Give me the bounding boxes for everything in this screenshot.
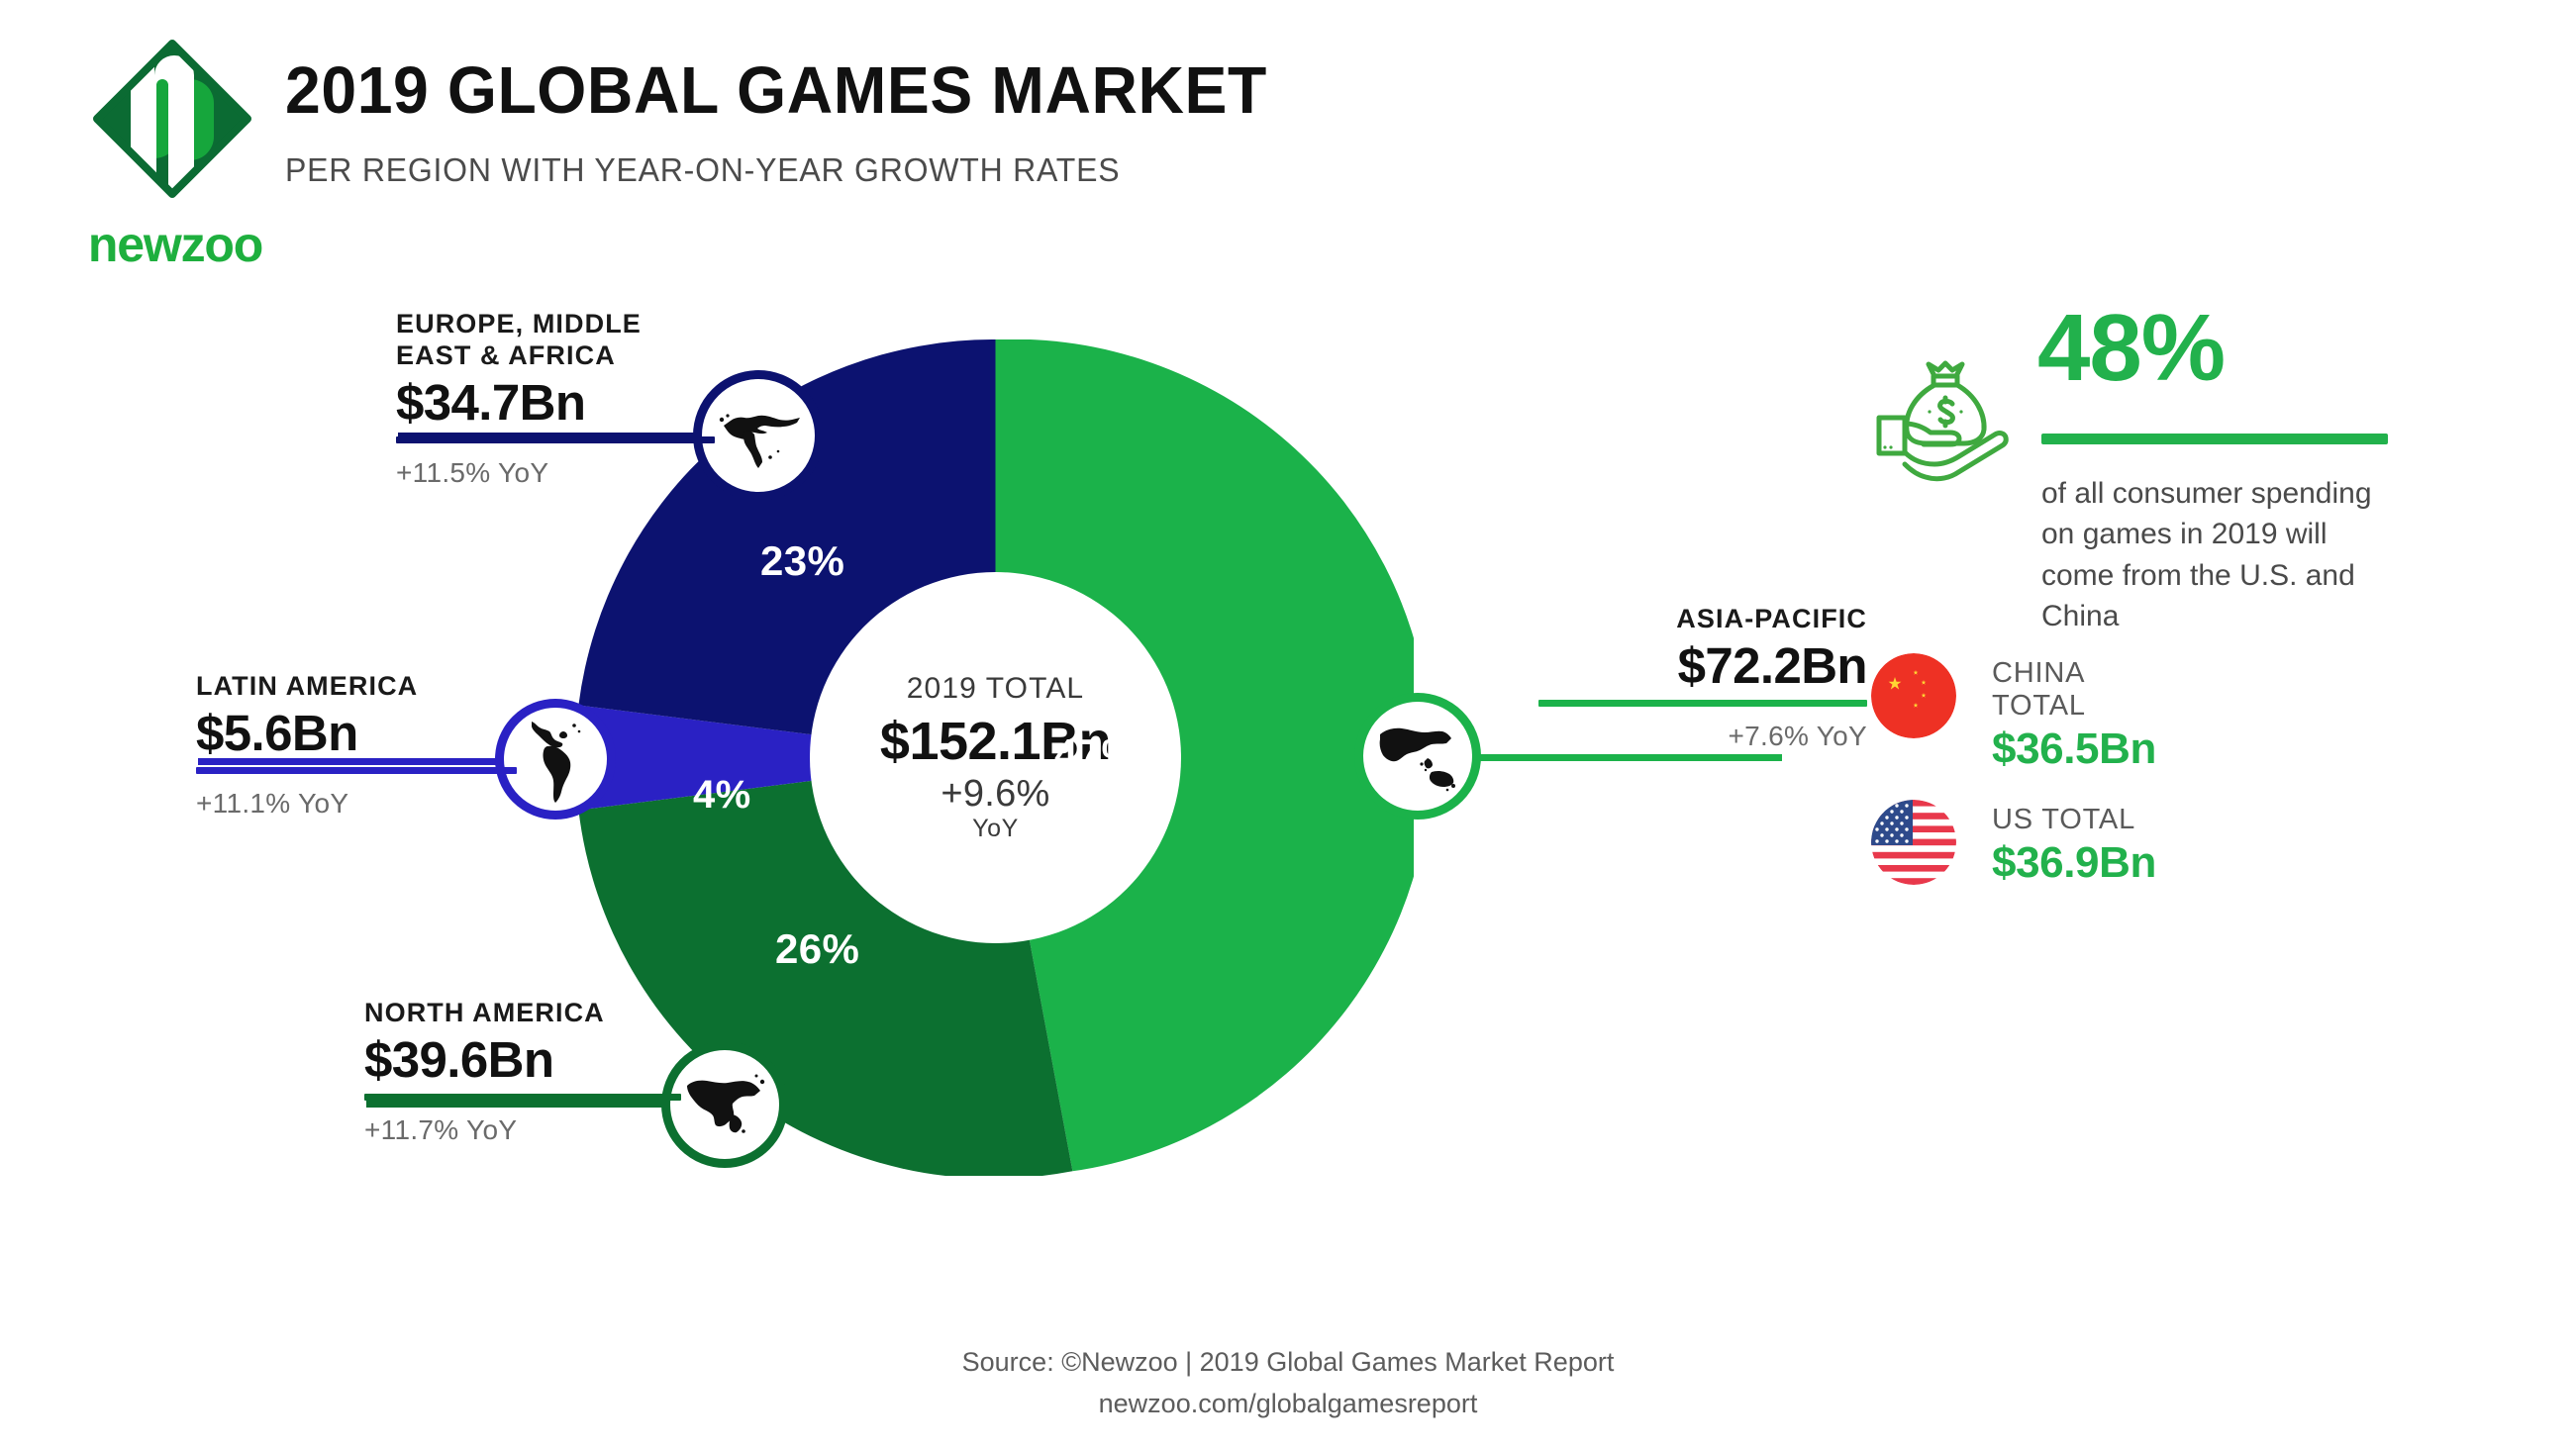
callout-northamerica-name: NORTH AMERICA: [364, 998, 691, 1029]
callout-northamerica-growth: +11.7% YoY: [364, 1114, 691, 1146]
asia-pacific-map-icon: [1376, 719, 1459, 794]
donut-center-growth: +9.6%: [941, 775, 1049, 815]
country-text-china: CHINA TOTAL $36.5Bn: [1992, 657, 2156, 774]
callout-latam-growth: +11.1% YoY: [196, 788, 523, 820]
footer-source: Source: ©Newzoo | 2019 Global Games Mark…: [0, 1342, 2576, 1384]
highlight-percent: 48%: [2037, 301, 2225, 396]
money-bag-in-hand-icon: [1871, 337, 2020, 485]
country-label-china: CHINA TOTAL: [1992, 657, 2156, 723]
footer-url[interactable]: newzoo.com/globalgamesreport: [0, 1384, 2576, 1425]
country-value-china: $36.5Bn: [1992, 724, 2156, 774]
callout-northamerica-value: $39.6Bn: [364, 1031, 691, 1088]
callout-apac-rule: [1538, 700, 1867, 707]
slice-label-latin-america: 4%: [693, 773, 751, 818]
callout-emea-name: EUROPE, MIDDLE EAST & AFRICA: [396, 309, 723, 372]
slice-label-emea: 23%: [760, 537, 844, 585]
callout-apac-value: $72.2Bn: [1531, 637, 1867, 694]
callout-emea-growth: +11.5% YoY: [396, 457, 723, 489]
callout-emea-name-line2: EAST & AFRICA: [396, 340, 616, 370]
country-label-us: US TOTAL: [1992, 804, 2156, 836]
donut-center-yoy: YoY: [972, 815, 1019, 843]
callout-latam: LATIN AMERICA $5.6Bn +11.1% YoY: [196, 671, 523, 820]
callout-apac-name: ASIA-PACIFIC: [1531, 604, 1867, 635]
europe-africa-map-icon: [713, 402, 804, 469]
callout-emea-value: $34.7Bn: [396, 374, 723, 431]
callout-emea-rule: [396, 436, 715, 443]
slice-label-asia-pacific: 47%: [1054, 730, 1139, 778]
us-flag-icon: [1871, 800, 1956, 885]
callout-emea-name-line1: EUROPE, MIDDLE: [396, 309, 642, 338]
pin-apac: [1354, 693, 1481, 820]
callout-latam-name: LATIN AMERICA: [196, 671, 523, 703]
footer: Source: ©Newzoo | 2019 Global Games Mark…: [0, 1342, 2576, 1425]
latin-america-map-icon: [524, 716, 587, 803]
china-flag-icon: [1871, 653, 1956, 738]
callout-latam-rule: [196, 767, 517, 774]
donut-center-caption: 2019 TOTAL: [907, 672, 1084, 706]
callout-apac-growth: +7.6% YoY: [1531, 721, 1867, 752]
callout-emea: EUROPE, MIDDLE EAST & AFRICA $34.7Bn +11…: [396, 309, 723, 489]
north-america-map-icon: [681, 1070, 768, 1139]
connector-apac: [1445, 754, 1782, 761]
page-subtitle: PER REGION WITH YEAR-ON-YEAR GROWTH RATE…: [285, 151, 1277, 189]
callout-northamerica-rule: [364, 1094, 681, 1101]
newzoo-diamond-logo-icon: [93, 40, 251, 198]
brand-wordmark: newzoo: [71, 216, 279, 273]
highlight-description: of all consumer spending on games in 201…: [2041, 473, 2378, 637]
country-value-us: $36.9Bn: [1992, 838, 2156, 888]
callout-apac: ASIA-PACIFIC $72.2Bn +7.6% YoY: [1531, 604, 1867, 752]
brand-block: newzoo: [71, 40, 289, 267]
page-title: 2019 GLOBAL GAMES MARKET: [285, 57, 1267, 124]
country-text-us: US TOTAL $36.9Bn: [1992, 804, 2156, 888]
highlight-rule: [2041, 434, 2388, 444]
callout-latam-value: $5.6Bn: [196, 705, 523, 761]
callout-northamerica: NORTH AMERICA $39.6Bn +11.7% YoY: [364, 998, 691, 1146]
header: newzoo 2019 GLOBAL GAMES MARKET PER REGI…: [0, 0, 2576, 297]
slice-label-north-america: 26%: [775, 925, 859, 973]
title-block: 2019 GLOBAL GAMES MARKET PER REGION WITH…: [285, 57, 1308, 189]
